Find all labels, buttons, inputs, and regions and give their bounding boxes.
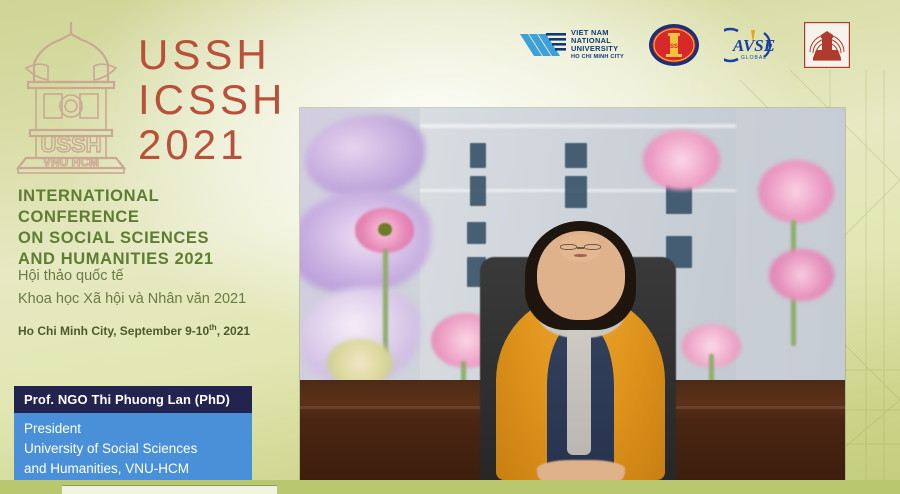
bottom-light-bar [62,485,277,494]
partner-logo-vssh: VSSH [648,23,700,67]
conference-date-location: Ho Chi Minh City, September 9-10th, 2021 [18,323,273,338]
conference-title: INTERNATIONAL CONFERENCE ON SOCIAL SCIEN… [18,186,268,270]
speaker-video-feed[interactable] [300,108,845,480]
conference-date-prefix: Ho Chi Minh City, September 9-10 [18,324,209,338]
ussh-pagoda-logo-icon: USSH VNU HCM [14,18,128,174]
presentation-slide: USSH VNU HCM USSH ICSSH 2021 INTERNATION… [0,0,900,494]
speaker-details: President University of Social Sciences … [14,413,252,488]
speaker-name: Prof. NGO Thi Phuong Lan (PhD) [14,386,252,413]
acronym-line-ussh: USSH [138,32,286,77]
conference-vi-line1: Hội thảo quốc tế [18,265,273,288]
svg-text:USSH: USSH [40,132,101,157]
partner-logo-ruby-institute [804,22,850,68]
conference-acronym: USSH ICSSH 2021 [138,32,286,167]
speaker-head [537,231,625,321]
conference-title-vietnamese: Hội thảo quốc tế Khoa học Xã hội và Nhân… [18,265,273,311]
vnu-bars-icon [520,30,566,60]
acronym-line-icssh: ICSSH [138,77,286,122]
speaker-glasses-icon [560,244,600,250]
avse-global-icon: AVSE GLOBAL [724,27,780,63]
red-pagoda-seal-icon [804,22,850,68]
vnu-line3: UNIVERSITY [571,45,624,53]
speaker-figure [496,231,665,480]
speaker-affiliation-line2: and Humanities, VNU-HCM [24,459,244,479]
conference-vi-line2: Khoa học Xã hội và Nhân văn 2021 [18,288,273,311]
background-flower [758,160,834,223]
vnu-line4: HO CHI MINH CITY [571,53,624,61]
speaker-lower-third: Prof. NGO Thi Phuong Lan (PhD) President… [14,386,252,488]
speaker-role: President [24,419,244,439]
partner-logo-vnu-hcm: VIET NAM NATIONAL UNIVERSITY HO CHI MINH… [520,29,624,62]
background-flower [643,130,719,190]
avse-sublabel: GLOBAL [741,55,767,61]
acronym-line-year: 2021 [138,122,286,167]
svg-text:VNU HCM: VNU HCM [43,155,99,169]
conference-date-ordinal: th [209,323,217,332]
vnu-hcm-wordmark: VIET NAM NATIONAL UNIVERSITY HO CHI MINH… [571,29,624,62]
speaker-scarf [567,311,591,456]
speaker-mouth [574,254,586,257]
speaker-affiliation-line1: University of Social Sciences [24,439,244,459]
conference-date-suffix: , 2021 [217,324,250,338]
conference-logo-block: USSH VNU HCM USSH ICSSH 2021 [14,18,286,174]
conference-title-line1: INTERNATIONAL CONFERENCE [18,186,268,228]
conference-title-line2: ON SOCIAL SCIENCES [18,228,268,249]
speaker-hands [537,460,625,480]
vssh-label: VSSH [666,44,682,50]
partner-logo-row: VIET NAM NATIONAL UNIVERSITY HO CHI MINH… [520,14,850,76]
partner-logo-avse-global: AVSE GLOBAL [724,27,780,63]
vssh-seal-icon: VSSH [648,23,700,67]
